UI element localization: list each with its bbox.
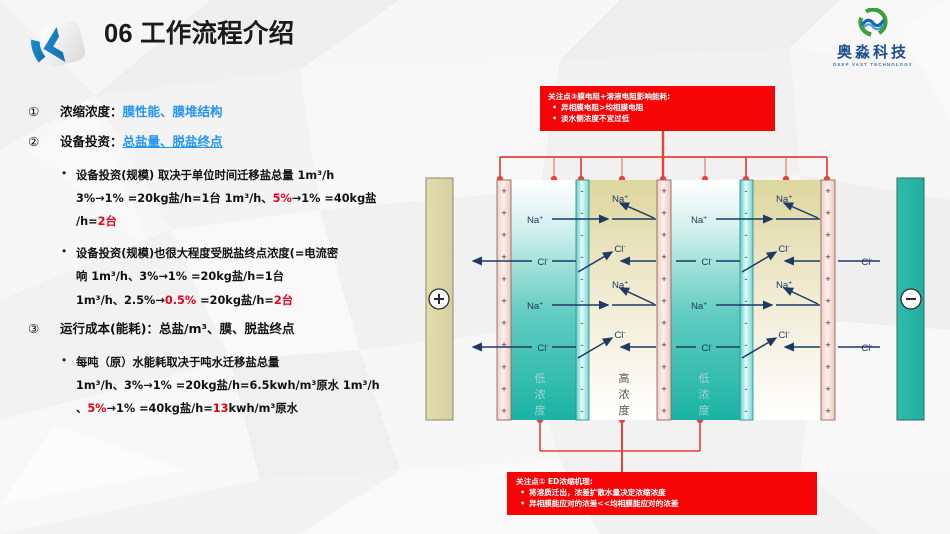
- svg-text:-: -: [580, 208, 583, 219]
- callout-bottom-bullet-2-text: 异相膜能应对的浓差<<均相膜能应对的浓差: [529, 498, 678, 509]
- svg-text:-: -: [744, 384, 747, 395]
- svg-text:+: +: [825, 274, 831, 285]
- svg-text:+: +: [661, 340, 667, 351]
- cl-inflow-arrows: [838, 261, 880, 347]
- svg-text:-: -: [744, 230, 747, 241]
- callout-bottom-bullet-1: • 将溶质迁出，浓差扩散水量决定浓缩浓度: [516, 487, 810, 498]
- svg-text:+: +: [825, 384, 831, 395]
- bullet-dot-icon: •: [516, 498, 529, 509]
- concentrate-chamber-2: [750, 180, 827, 420]
- callout-bottom: 关注点① ED浓缩机理: • 将溶质迁出，浓差扩散水量决定浓缩浓度 • 异相膜能…: [507, 472, 817, 515]
- svg-text:+: +: [825, 186, 831, 197]
- ion-label-cl: Cl-: [861, 256, 872, 268]
- svg-text:+: +: [501, 274, 507, 285]
- svg-text:+: +: [661, 384, 667, 395]
- svg-text:-: -: [580, 186, 583, 197]
- svg-text:+: +: [661, 296, 667, 307]
- svg-text:+: +: [661, 318, 667, 329]
- svg-text:-: -: [744, 362, 747, 373]
- svg-text:+: +: [661, 406, 667, 417]
- svg-text:+: +: [825, 318, 831, 329]
- svg-text:-: -: [580, 274, 583, 285]
- ion-label-cl: Cl-: [861, 342, 872, 354]
- svg-text:+: +: [501, 340, 507, 351]
- svg-text:+: +: [501, 406, 507, 417]
- svg-text:-: -: [744, 274, 747, 285]
- svg-text:+: +: [661, 362, 667, 373]
- dilute-label-1: 低浓度: [535, 372, 546, 417]
- svg-text:-: -: [580, 252, 583, 263]
- callout-bottom-bullet-1-text: 将溶质迁出，浓差扩散水量决定浓缩浓度: [529, 487, 666, 498]
- svg-text:+: +: [661, 274, 667, 285]
- svg-text:+: +: [501, 230, 507, 241]
- svg-text:-: -: [744, 186, 747, 197]
- svg-text:低: 低: [535, 372, 546, 385]
- cathode-electrode: [897, 178, 924, 420]
- svg-text:-: -: [580, 362, 583, 373]
- slide-canvas: 06 工作流程介绍 奥淼科技 DEEP VAST TECHNOLOGY ① 浓缩…: [0, 0, 950, 534]
- bullet-dot-icon: •: [548, 113, 561, 124]
- svg-text:+: +: [825, 252, 831, 263]
- svg-text:-: -: [580, 406, 583, 417]
- svg-text:+: +: [661, 230, 667, 241]
- callout-top-bullet-2: • 淡水侧浓度不宜过低: [548, 113, 768, 124]
- svg-text:+: +: [825, 208, 831, 219]
- svg-text:+: +: [501, 384, 507, 395]
- svg-text:+: +: [501, 318, 507, 329]
- svg-text:+: +: [825, 230, 831, 241]
- svg-text:+: +: [825, 340, 831, 351]
- svg-text:+: +: [501, 362, 507, 373]
- callout-top-title: 关注点③膜电阻+溶液电阻影响能耗:: [548, 91, 768, 102]
- dilute-label-2: 低浓度: [699, 372, 710, 417]
- svg-text:+: +: [661, 186, 667, 197]
- svg-text:低: 低: [699, 372, 710, 385]
- electrodialysis-diagram: +++ +++ +++ ++ --- --- --- -- +++ +++ ++…: [0, 0, 950, 534]
- anode-electrode: [426, 178, 453, 420]
- svg-text:-: -: [580, 230, 583, 241]
- svg-text:-: -: [744, 252, 747, 263]
- svg-text:+: +: [825, 296, 831, 307]
- svg-text:-: -: [580, 318, 583, 329]
- svg-text:+: +: [825, 362, 831, 373]
- svg-text:+: +: [501, 296, 507, 307]
- svg-text:浓: 浓: [535, 388, 546, 401]
- svg-text:浓: 浓: [619, 388, 630, 401]
- svg-text:+: +: [501, 186, 507, 197]
- svg-text:度: 度: [535, 403, 546, 417]
- svg-text:高: 高: [619, 371, 630, 385]
- svg-text:+: +: [501, 208, 507, 219]
- callout-top-bullet-2-text: 淡水侧浓度不宜过低: [561, 113, 629, 124]
- callout-top-bullet-1: • 异相膜电阻>均相膜电阻: [548, 102, 768, 113]
- svg-text:-: -: [580, 384, 583, 395]
- svg-text:-: -: [744, 208, 747, 219]
- bullet-dot-icon: •: [516, 487, 529, 498]
- svg-text:+: +: [661, 208, 667, 219]
- bottom-connector-network: [540, 420, 700, 472]
- callout-bottom-bullet-2: • 异相膜能应对的浓差<<均相膜能应对的浓差: [516, 498, 810, 509]
- svg-text:-: -: [744, 340, 747, 351]
- svg-text:度: 度: [619, 403, 630, 417]
- callout-top: 关注点③膜电阻+溶液电阻影响能耗: • 异相膜电阻>均相膜电阻 • 淡水侧浓度不…: [540, 86, 775, 131]
- svg-text:-: -: [744, 406, 747, 417]
- top-connector-network: [500, 131, 827, 178]
- callout-bottom-title: 关注点① ED浓缩机理:: [516, 476, 810, 487]
- svg-text:浓: 浓: [699, 388, 710, 401]
- svg-text:度: 度: [699, 403, 710, 417]
- callout-top-bullet-1-text: 异相膜电阻>均相膜电阻: [561, 102, 643, 113]
- svg-text:+: +: [661, 252, 667, 263]
- svg-text:-: -: [744, 318, 747, 329]
- svg-text:+: +: [825, 406, 831, 417]
- bullet-dot-icon: •: [548, 102, 561, 113]
- svg-text:-: -: [580, 340, 583, 351]
- concentrate-label-1: 高浓度: [619, 371, 630, 417]
